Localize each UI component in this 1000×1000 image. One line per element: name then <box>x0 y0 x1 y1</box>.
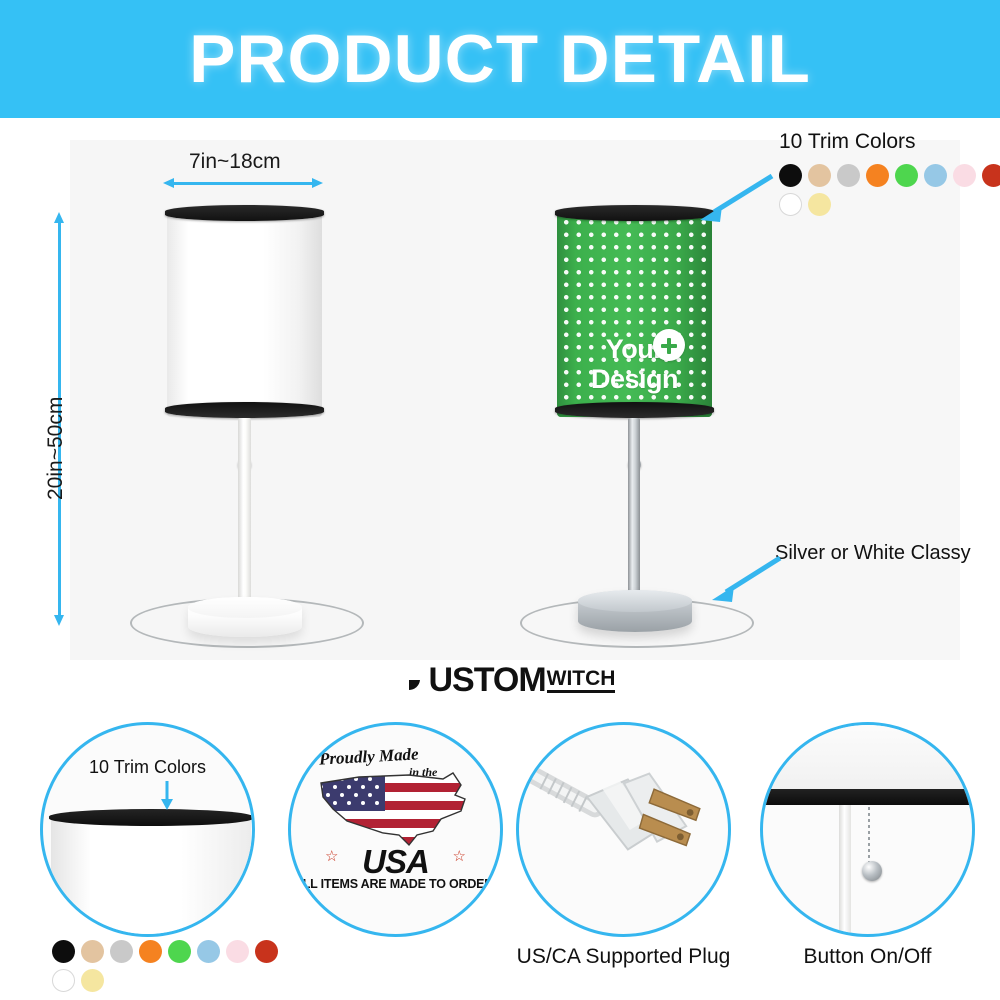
your-design-text: Your Design <box>557 334 712 394</box>
base-finish-label: Silver or White Classy <box>775 542 971 565</box>
swatch-tan[interactable] <box>808 164 831 187</box>
swatch-light-blue[interactable] <box>924 164 947 187</box>
swatch-green-2[interactable] <box>168 940 191 963</box>
trim-callout-arrow <box>690 168 780 228</box>
power-plug-icon <box>519 725 728 934</box>
swatch-orange[interactable] <box>866 164 889 187</box>
shade-trim-bottom <box>165 402 324 418</box>
lamp-stem-white <box>238 418 251 610</box>
lamp-shade-white <box>167 212 322 417</box>
usa-title: USA <box>291 843 500 881</box>
swatch-pink-2[interactable] <box>226 940 249 963</box>
swatch-pink[interactable] <box>953 164 976 187</box>
usa-map-flag-icon <box>313 765 485 847</box>
height-dimension-label: 20in~50cm <box>44 397 68 500</box>
trim-band-closeup <box>49 809 253 826</box>
pull-chain-closeup[interactable] <box>868 807 870 865</box>
feature-circle-trim: 10 Trim Colors <box>40 722 255 937</box>
plus-icon[interactable] <box>653 329 685 361</box>
design-line-2: Design <box>591 364 678 394</box>
swatch-black-2[interactable] <box>52 940 75 963</box>
brand-logo: USTOMWITCH <box>0 662 1000 698</box>
swatch-white-2[interactable] <box>52 969 75 992</box>
lamp-stem-closeup <box>839 805 851 937</box>
lamp-base-silver <box>578 590 692 632</box>
base-finish-arrow <box>700 550 790 610</box>
usa-subtitle: ALL ITEMS ARE MADE TO ORDER! <box>291 877 500 891</box>
swatch-white[interactable] <box>779 193 802 216</box>
trim-down-arrow-icon <box>159 781 175 811</box>
custom-witch-mark-icon <box>385 662 429 698</box>
trim-color-swatches[interactable] <box>779 164 1000 216</box>
swatch-pale-yellow[interactable] <box>808 193 831 216</box>
swatch-black[interactable] <box>779 164 802 187</box>
star-right-icon: ☆ <box>453 847 466 865</box>
swatch-tan-2[interactable] <box>81 940 104 963</box>
feature-trim-label: 10 Trim Colors <box>89 757 206 778</box>
swatch-orange-2[interactable] <box>139 940 162 963</box>
feature-circle-usa: Proudly Made in the <box>288 722 503 937</box>
button-caption: Button On/Off <box>760 945 975 969</box>
trim-band-button-closeup <box>760 789 975 805</box>
feature-circle-button <box>760 722 975 937</box>
header-banner: PRODUCT DETAIL <box>0 0 1000 118</box>
plug-caption: US/CA Supported Plug <box>516 945 731 969</box>
page-title: PRODUCT DETAIL <box>0 20 1000 98</box>
swatch-gray[interactable] <box>837 164 860 187</box>
swatch-pale-yellow-2[interactable] <box>81 969 104 992</box>
brand-name-sub: WITCH <box>547 668 616 693</box>
width-dimension-arrow <box>163 178 323 188</box>
lamp-stem-silver <box>628 418 640 598</box>
brand-name-main: USTOM <box>429 663 546 697</box>
lamp-base-white <box>188 597 302 637</box>
swatch-light-blue-2[interactable] <box>197 940 220 963</box>
feature-circle-plug <box>516 722 731 937</box>
swatch-green[interactable] <box>895 164 918 187</box>
trim-colors-label: 10 Trim Colors <box>779 130 916 154</box>
pull-chain-ball-closeup[interactable] <box>862 861 882 881</box>
product-detail-page: PRODUCT DETAIL 7in~18cm 20in~50cm <box>0 0 1000 1000</box>
shade-trim-top <box>165 205 324 221</box>
swatch-gray-2[interactable] <box>110 940 133 963</box>
width-dimension-label: 7in~18cm <box>189 150 281 174</box>
swatch-red-2[interactable] <box>255 940 278 963</box>
shade-trim-bottom-green <box>555 402 714 418</box>
lamp-shade-green: Your Design <box>557 212 712 417</box>
swatch-red[interactable] <box>982 164 1000 187</box>
feature-trim-swatches[interactable] <box>52 940 282 992</box>
